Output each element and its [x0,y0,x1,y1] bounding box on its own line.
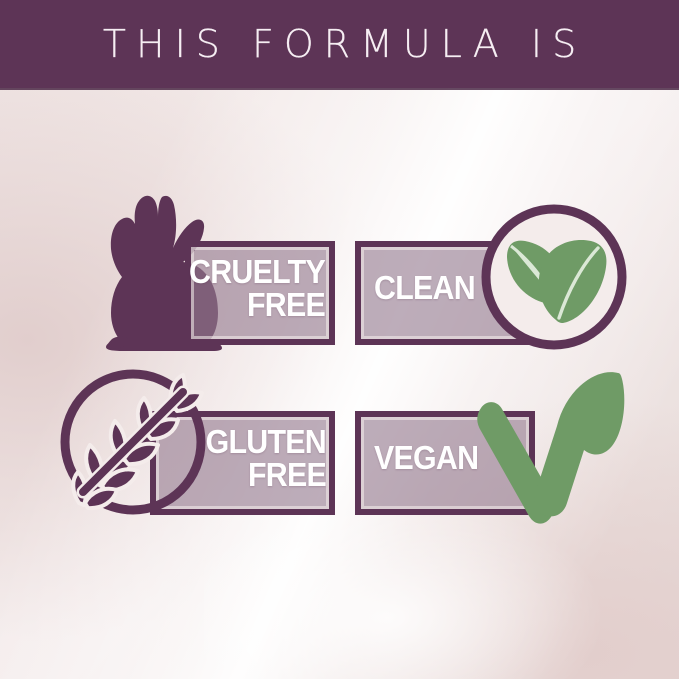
badge-label-clean: CLEAN [374,272,521,305]
badge-label-gluten-free: GLUTEN FREE [197,426,326,491]
no-wheat-icon [57,366,209,518]
header-banner: THIS FORMULA IS [0,0,679,88]
badge-label-cruelty-free: CRUELTY FREE [187,256,325,321]
page-title: THIS FORMULA IS [93,25,586,63]
header-divider [0,88,679,90]
formula-claims-graphic: THIS FORMULA IS [0,0,679,679]
badge-label-vegan: VEGAN [374,442,521,475]
